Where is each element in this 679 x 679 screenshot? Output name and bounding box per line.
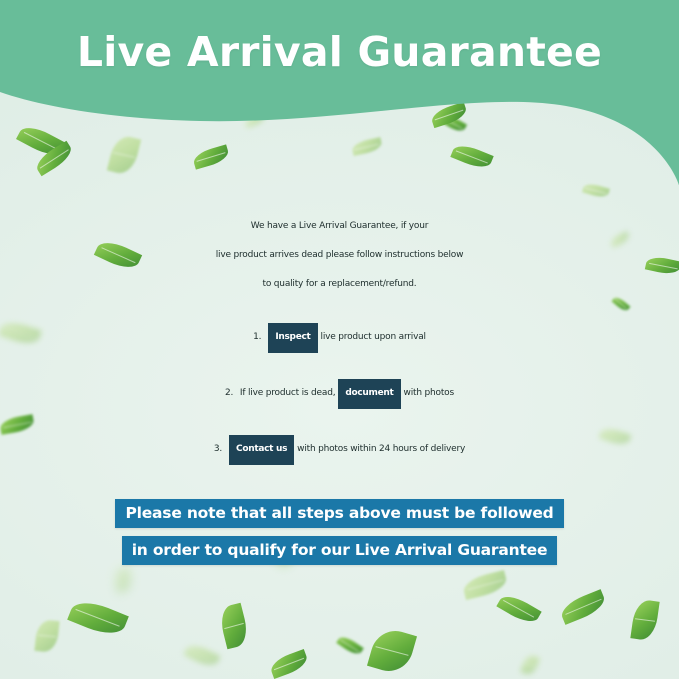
intro-line-3: to quality for a replacement/refund. xyxy=(0,270,679,299)
step-text-after: with photos within 24 hours of delivery xyxy=(297,444,465,454)
step-number: 3. xyxy=(214,444,222,454)
intro-paragraph: We have a Live Arrival Guarantee, if you… xyxy=(0,212,679,299)
live-arrival-guarantee-poster: Live Arrival Guarantee We have a Live Ar… xyxy=(0,0,679,679)
step-text-after: with photos xyxy=(404,388,454,398)
note-banner-line-2: in order to qualify for our Live Arrival… xyxy=(122,536,558,565)
poster-content: We have a Live Arrival Guarantee, if you… xyxy=(0,0,679,679)
step-highlight-document[interactable]: document xyxy=(338,379,400,409)
step-item: 3.Contact uswith photos within 24 hours … xyxy=(0,432,679,466)
step-highlight-inspect[interactable]: Inspect xyxy=(268,323,317,353)
step-item: 2. If live product is dead,documentwith … xyxy=(0,376,679,410)
step-highlight-contact-us[interactable]: Contact us xyxy=(229,435,294,465)
step-number: 2. xyxy=(225,388,233,398)
step-text-before: If live product is dead, xyxy=(240,388,335,398)
step-text-after: live product upon arrival xyxy=(321,332,426,342)
intro-line-2: live product arrives dead please follow … xyxy=(0,241,679,270)
note-banners: Please note that all steps above must be… xyxy=(0,499,679,573)
step-item: 1.Inspectlive product upon arrival xyxy=(0,320,679,354)
note-banner-line-1: Please note that all steps above must be… xyxy=(115,499,563,528)
steps-list: 1.Inspectlive product upon arrival 2. If… xyxy=(0,320,679,488)
intro-line-1: We have a Live Arrival Guarantee, if you… xyxy=(0,212,679,241)
step-number: 1. xyxy=(253,332,261,342)
